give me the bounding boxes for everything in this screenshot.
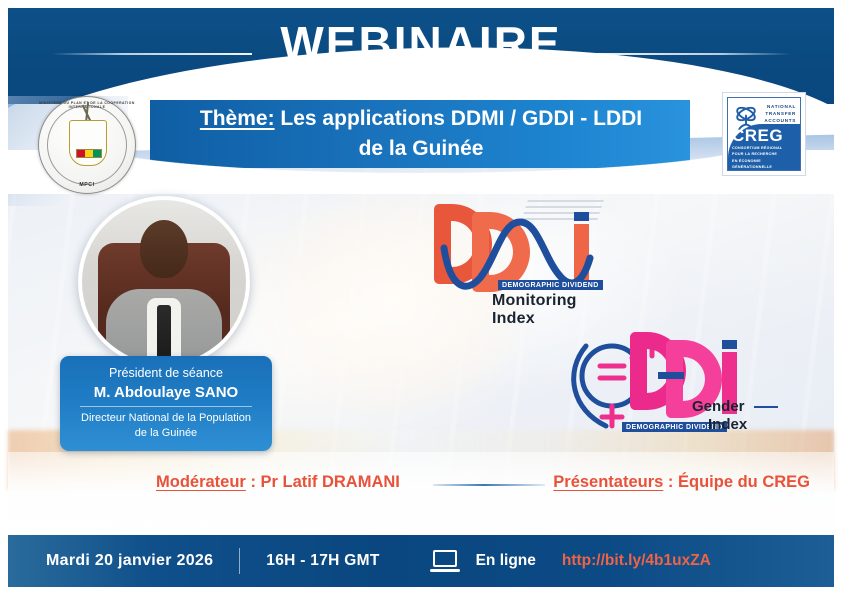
theme-text: Thème: Les applications DDMI / GDDI - LD…	[120, 104, 722, 164]
header-rule-left	[52, 53, 252, 55]
webinar-poster: Thème: Les applications DDMI / GDDI - LD…	[0, 0, 842, 595]
ministry-logo-acronym: MPCI	[38, 182, 136, 188]
event-time: 16H - 17H GMT	[266, 552, 379, 570]
moderator-text: Modérateur : Pr Latif DRAMANI	[156, 473, 400, 492]
gddi-word-gender: Gender	[692, 398, 745, 415]
poster-header: WEBINAIRE	[8, 8, 834, 104]
poster-footer: Mardi 20 janvier 2026 16H - 17H GMT En l…	[8, 535, 834, 587]
event-date: Mardi 20 janvier 2026	[46, 552, 213, 570]
avatar	[78, 196, 250, 368]
guinea-flag-icon	[76, 149, 102, 158]
ministry-plan-guinea-logo: MINISTERE DU PLAN ET DE LA COOPERATION I…	[38, 96, 136, 194]
gddi-rule	[754, 406, 778, 408]
gddi-logo: DEMOGRAPHIC DIVIDEND Gender Index	[566, 326, 766, 444]
creg-acronym: CREG	[732, 127, 783, 144]
ministry-logo-shield	[69, 120, 107, 166]
theme-label: Thème:	[200, 107, 275, 130]
ddmi-title: Monitoring Index	[492, 292, 614, 328]
creg-sub-3: EN ÉCONOMIE GÉNÉRATIONNELLE	[732, 159, 772, 169]
moderator-label: Modérateur	[156, 473, 246, 491]
presenters-label: Présentateurs	[553, 473, 663, 491]
nta-line-2: TRANSFER	[765, 111, 796, 116]
creg-sub-2: POUR LA RECHERCHE	[732, 152, 777, 156]
speaker-name: M. Abdoulaye SANO	[68, 382, 264, 405]
creg-logo-inner: NATIONAL TRANSFER ACCOUNTS Demographic D…	[727, 97, 801, 171]
creg-band: CREG CONSORTIUM RÉGIONAL POUR LA RECHERC…	[728, 124, 800, 170]
ddmi-badge: DEMOGRAPHIC DIVIDEND	[498, 280, 603, 290]
laptop-base	[430, 569, 460, 572]
speaker-title-line-1: Directeur National de la Population	[68, 411, 264, 426]
speaker-title-line-2: de la Guinée	[68, 426, 264, 441]
creg-sub-1: CONSORTIUM RÉGIONAL	[732, 146, 782, 150]
creg-logo: NATIONAL TRANSFER ACCOUNTS Demographic D…	[722, 92, 806, 176]
moderator-separator: :	[246, 473, 261, 491]
roles-row: Modérateur : Pr Latif DRAMANI Présentate…	[8, 470, 834, 504]
nta-line-1: NATIONAL	[767, 104, 796, 109]
gddi-blue-bar	[658, 372, 684, 379]
ddmi-logo: DEMOGRAPHIC DIVIDEND Monitoring Index	[428, 196, 614, 320]
speaker-role: Président de séance	[68, 365, 264, 382]
footer-divider	[239, 548, 240, 574]
theme-line-1: Les applications DDMI / GDDI - LDDI	[275, 107, 643, 130]
gddi-word-index: Index	[708, 416, 747, 433]
event-url[interactable]: http://bit.ly/4b1uxZA	[562, 552, 711, 570]
nta-title: NATIONAL TRANSFER ACCOUNTS	[764, 104, 796, 125]
gddi-letter-i-dot	[722, 340, 737, 349]
presenters-name: Équipe du CREG	[678, 473, 810, 491]
roles-divider	[433, 484, 545, 486]
presenters-text: Présentateurs : Équipe du CREG	[553, 473, 810, 492]
laptop-icon	[430, 550, 460, 572]
laptop-screen	[433, 550, 457, 567]
theme-line-2: de la Guinée	[359, 137, 484, 160]
event-mode: En ligne	[476, 552, 536, 570]
avatar-photo	[82, 200, 246, 364]
creg-subtitle: CONSORTIUM RÉGIONAL POUR LA RECHERCHE EN…	[732, 145, 797, 171]
avatar-head	[140, 220, 188, 278]
speaker-card: Président de séance M. Abdoulaye SANO Di…	[60, 356, 272, 451]
presenters-separator: :	[663, 473, 678, 491]
speaker-card-divider	[80, 406, 252, 407]
moderator-name: Pr Latif DRAMANI	[261, 473, 400, 491]
